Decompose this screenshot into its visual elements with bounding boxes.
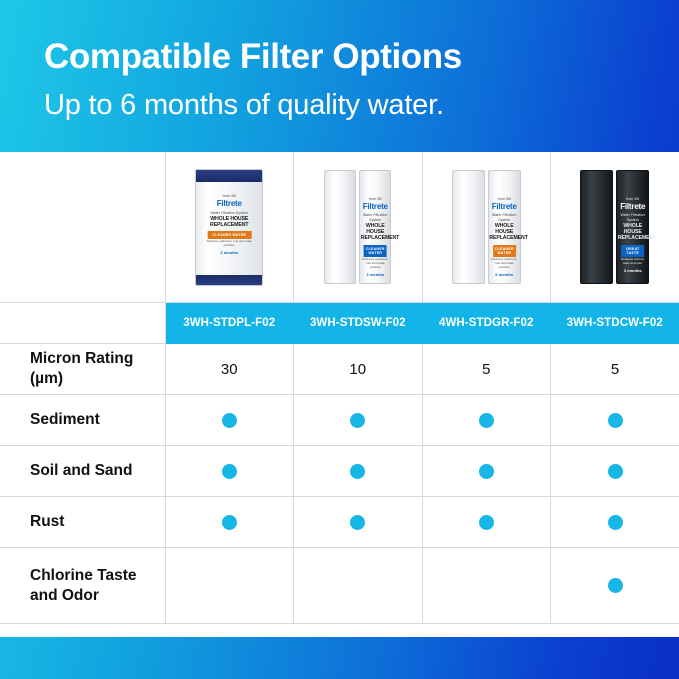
sediment-cell-2 bbox=[294, 395, 423, 446]
page-title: Compatible Filter Options bbox=[44, 36, 657, 78]
micron-value-1: 30 bbox=[165, 344, 294, 395]
label-brand-4: Filtrete bbox=[618, 202, 648, 211]
sediment-cell-3 bbox=[422, 395, 551, 446]
row-label-chlorine-taste-and-odor: Chlorine Taste and Odor bbox=[0, 548, 165, 624]
rust-cell-4 bbox=[551, 497, 679, 548]
check-dot-icon bbox=[479, 413, 494, 428]
label-mini-2: Reduces sediment, rust and scale particl… bbox=[361, 257, 390, 269]
page-subtitle: Up to 6 months of quality water. bbox=[44, 86, 657, 124]
sediment-cell-1 bbox=[165, 395, 294, 446]
label-line2-2: REPLACEMENT bbox=[361, 235, 390, 241]
label-line2-3: REPLACEMENT bbox=[489, 235, 519, 241]
check-dot-icon bbox=[479, 464, 494, 479]
header-banner: Compatible Filter Options Up to 6 months… bbox=[0, 0, 679, 152]
chlorine-cell-2 bbox=[294, 548, 423, 624]
filter-spun-white-pair-icon: from 3M Filtrete Water Filtration System… bbox=[324, 170, 391, 284]
label-line2-1: REPLACEMENT bbox=[201, 222, 258, 228]
label-line3-4: Water Filtration System bbox=[618, 213, 648, 223]
comparison-table-card: from 3M Filtrete Water Filtration System… bbox=[0, 152, 679, 637]
check-dot-icon bbox=[608, 413, 623, 428]
row-label-micron-rating: Micron Rating (µm) bbox=[0, 344, 165, 395]
product-image-row: from 3M Filtrete Water Filtration System… bbox=[0, 152, 679, 303]
label-badge-1: CLEANER WATER bbox=[207, 231, 251, 239]
label-line3-2: Water Filtration System bbox=[361, 213, 390, 223]
product-image-cell-1: from 3M Filtrete Water Filtration System… bbox=[165, 152, 294, 303]
label-mini-3: Reduces sediment, rust and scale particl… bbox=[489, 257, 519, 269]
image-row-corner-cell bbox=[0, 152, 165, 303]
label-months-1: 3 months bbox=[201, 250, 258, 255]
product-image-cell-4: from 3M Filtrete Water Filtration System… bbox=[551, 152, 679, 303]
label-line1-4: WHOLE HOUSE bbox=[618, 223, 648, 235]
soil-sand-cell-3 bbox=[422, 446, 551, 497]
rust-cell-2 bbox=[294, 497, 423, 548]
product-image-1: from 3M Filtrete Water Filtration System… bbox=[166, 152, 294, 302]
table-row: Rust bbox=[0, 497, 679, 548]
label-months-3: 6 months bbox=[489, 272, 519, 277]
rust-cell-3 bbox=[422, 497, 551, 548]
label-line3-3: Water Filtration System bbox=[489, 213, 519, 223]
sku-cell-4: 3WH-STDCW-F02 bbox=[551, 303, 679, 344]
product-image-2: from 3M Filtrete Water Filtration System… bbox=[294, 152, 422, 302]
row-label-rust: Rust bbox=[0, 497, 165, 548]
footer-gradient-strip bbox=[0, 637, 679, 679]
label-brand-2: Filtrete bbox=[361, 202, 390, 211]
table-row: Chlorine Taste and Odor bbox=[0, 548, 679, 624]
table-row: Soil and Sand bbox=[0, 446, 679, 497]
check-dot-icon bbox=[479, 515, 494, 530]
label-mini-4: Reduces chlorine taste and odor bbox=[618, 257, 648, 265]
product-image-cell-2: from 3M Filtrete Water Filtration System… bbox=[294, 152, 423, 303]
sku-cell-2: 3WH-STDSW-F02 bbox=[294, 303, 423, 344]
label-badge-4: GREAT TASTE bbox=[621, 245, 644, 257]
label-months-4: 3 months bbox=[618, 268, 648, 273]
check-dot-icon bbox=[608, 515, 623, 530]
label-badge-3: CLEANER WATER bbox=[493, 245, 516, 257]
label-months-2: 3 months bbox=[361, 272, 390, 277]
filter-pleated-blue-cap-icon: from 3M Filtrete Water Filtration System… bbox=[195, 169, 263, 286]
product-image-3: from 3M Filtrete Water Filtration System… bbox=[423, 152, 551, 302]
compatibility-table: from 3M Filtrete Water Filtration System… bbox=[0, 152, 679, 624]
soil-sand-cell-4 bbox=[551, 446, 679, 497]
table-row: Micron Rating (µm) 30 10 5 5 bbox=[0, 344, 679, 395]
label-badge-2: CLEANER WATER bbox=[364, 245, 386, 257]
label-line1-3: WHOLE HOUSE bbox=[489, 223, 519, 235]
micron-value-3: 5 bbox=[422, 344, 551, 395]
table-row: Sediment bbox=[0, 395, 679, 446]
infographic-page: Compatible Filter Options Up to 6 months… bbox=[0, 0, 679, 679]
check-dot-icon bbox=[222, 464, 237, 479]
filter-carbon-black-pair-icon: from 3M Filtrete Water Filtration System… bbox=[580, 170, 649, 284]
label-brand-1: Filtrete bbox=[201, 199, 258, 208]
micron-value-4: 5 bbox=[551, 344, 679, 395]
label-line1-2: WHOLE HOUSE bbox=[361, 223, 390, 235]
soil-sand-cell-2 bbox=[294, 446, 423, 497]
sku-cell-1: 3WH-STDPL-F02 bbox=[165, 303, 294, 344]
rust-cell-1 bbox=[165, 497, 294, 548]
chlorine-cell-1 bbox=[165, 548, 294, 624]
label-line2-4: REPLACEMENT bbox=[618, 235, 648, 241]
chlorine-cell-4 bbox=[551, 548, 679, 624]
row-label-soil-and-sand: Soil and Sand bbox=[0, 446, 165, 497]
check-dot-icon bbox=[350, 464, 365, 479]
product-image-cell-3: from 3M Filtrete Water Filtration System… bbox=[422, 152, 551, 303]
check-dot-icon bbox=[222, 515, 237, 530]
sediment-cell-4 bbox=[551, 395, 679, 446]
filter-white-pair-grooved-icon: from 3M Filtrete Water Filtration System… bbox=[452, 170, 521, 284]
check-dot-icon bbox=[222, 413, 237, 428]
micron-value-2: 10 bbox=[294, 344, 423, 395]
check-dot-icon bbox=[608, 464, 623, 479]
check-dot-icon bbox=[608, 578, 623, 593]
label-brand-3: Filtrete bbox=[489, 202, 519, 211]
label-mini-1: Reduces sediment, rust and scale particl… bbox=[201, 239, 258, 247]
check-dot-icon bbox=[350, 413, 365, 428]
row-label-sediment: Sediment bbox=[0, 395, 165, 446]
sku-row-corner-cell bbox=[0, 303, 165, 344]
check-dot-icon bbox=[350, 515, 365, 530]
chlorine-cell-3 bbox=[422, 548, 551, 624]
soil-sand-cell-1 bbox=[165, 446, 294, 497]
product-image-4: from 3M Filtrete Water Filtration System… bbox=[551, 152, 679, 302]
sku-header-row: 3WH-STDPL-F02 3WH-STDSW-F02 4WH-STDGR-F0… bbox=[0, 303, 679, 344]
sku-cell-3: 4WH-STDGR-F02 bbox=[422, 303, 551, 344]
